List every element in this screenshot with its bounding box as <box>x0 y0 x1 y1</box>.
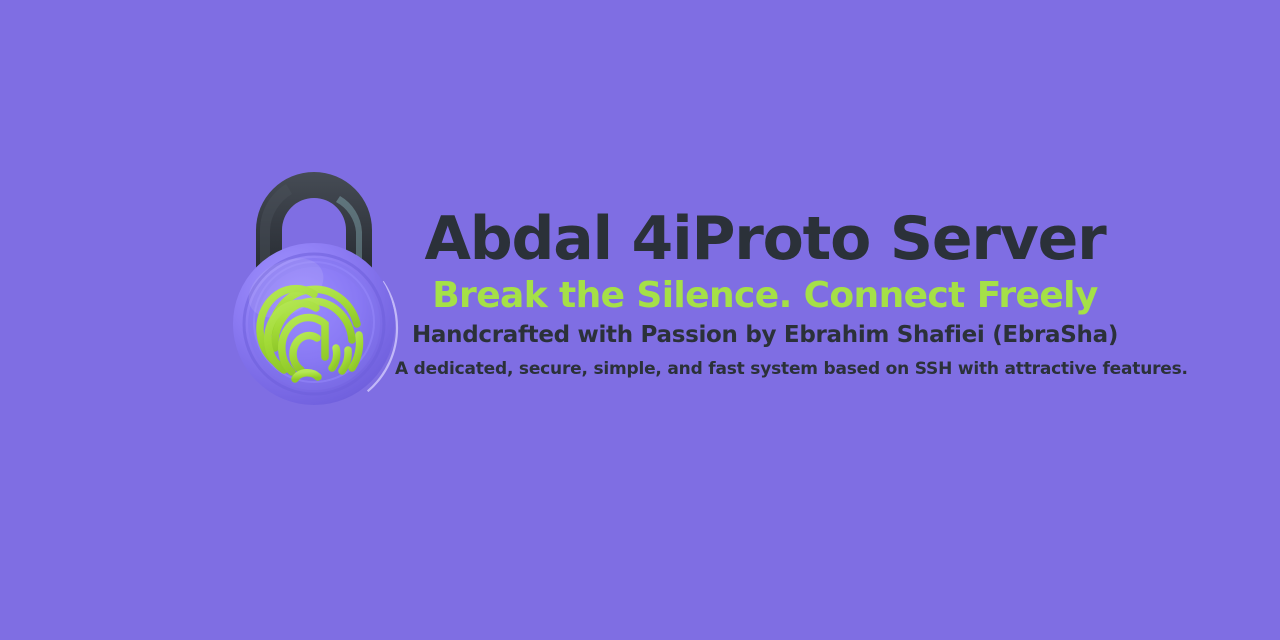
promo-banner: Abdal 4iProto Server Break the Silence. … <box>0 0 1280 640</box>
author-byline: Handcrafted with Passion by Ebrahim Shaf… <box>395 322 1135 350</box>
padlock-fingerprint-logo <box>228 172 400 420</box>
description-text: A dedicated, secure, simple, and fast sy… <box>395 359 1135 380</box>
hero-text-block: Abdal 4iProto Server Break the Silence. … <box>395 208 1135 380</box>
page-title: Abdal 4iProto Server <box>395 208 1135 272</box>
hero-section: Abdal 4iProto Server Break the Silence. … <box>0 0 1280 640</box>
tagline: Break the Silence. Connect Freely <box>395 276 1135 316</box>
